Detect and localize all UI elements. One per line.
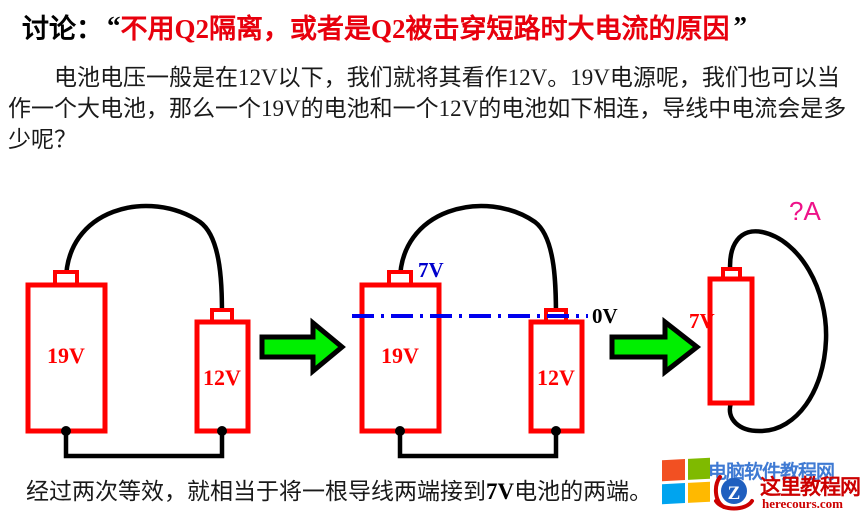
label-7v-shorted: 7V xyxy=(689,309,715,333)
watermark-url-text: herecours.com xyxy=(762,496,843,512)
battery-label: 19V xyxy=(381,343,419,368)
title-close-quote: ” xyxy=(730,11,748,42)
footer-text-part2: 电池的两端。 xyxy=(514,479,652,504)
junction-dot xyxy=(551,426,561,436)
footer-text-part1: 经过两次等效，就相当于将一根导线两端接到 xyxy=(26,479,486,504)
junction-dot xyxy=(395,426,405,436)
battery-19v-original: 19V xyxy=(28,272,105,431)
battery-label: 12V xyxy=(537,365,575,390)
battery-12v-reference: 12V xyxy=(531,310,582,431)
circuit-group-reference: 19V 12V 7V 0V xyxy=(352,206,618,456)
windows-logo-icon xyxy=(662,458,710,505)
slide-canvas: 讨论： “ 不用Q2隔离，或者是Q2被击穿短路时大电流的原因 ” 电池电压一般是… xyxy=(0,0,864,517)
label-0v-reference: 0V xyxy=(592,304,618,328)
label-7v-reference: 7V xyxy=(418,258,444,282)
title-highlight-text: 不用Q2隔离，或者是Q2被击穿短路时大电流的原因 xyxy=(121,7,730,46)
watermark-logo: 电脑软件教程网 Z 这里教程网 herecours.com xyxy=(652,457,864,517)
arrow-1-icon xyxy=(262,323,342,371)
label-current-unknown: ?A xyxy=(789,196,821,226)
title-open-quote: “ xyxy=(103,11,121,42)
battery-12v-original: 12V xyxy=(197,310,248,431)
junction-dot xyxy=(61,426,71,436)
body-paragraph: 电池电压一般是在12V以下，我们就将其看作12V。19V电源呢，我们也可以当作一… xyxy=(8,62,848,155)
junction-dot xyxy=(217,426,227,436)
bottom-wire-reference xyxy=(400,431,556,456)
battery-body xyxy=(710,279,752,403)
page-title: 讨论： “ 不用Q2隔离，或者是Q2被击穿短路时大电流的原因 ” xyxy=(0,4,864,48)
bottom-wire-original xyxy=(66,431,222,456)
footer-bold-value: 7V xyxy=(486,479,514,504)
circuit-group-shorted: 7V ?A xyxy=(689,196,826,431)
circuit-diagram-area: 19V 12V 19V xyxy=(0,180,864,460)
body-paragraph-text: 电池电压一般是在12V以下，我们就将其看作12V。19V电源呢，我们也可以当作一… xyxy=(8,65,846,152)
z-circle-icon: Z xyxy=(712,471,756,511)
battery-label: 12V xyxy=(203,365,241,390)
battery-7v-shorted xyxy=(710,269,752,403)
title-lead-text: 讨论： xyxy=(0,7,103,46)
battery-label: 19V xyxy=(47,343,85,368)
battery-19v-reference: 19V xyxy=(362,272,439,431)
arrow-2-icon xyxy=(612,322,697,372)
circuit-group-original: 19V 12V xyxy=(28,206,248,456)
z-letter: Z xyxy=(728,483,741,504)
